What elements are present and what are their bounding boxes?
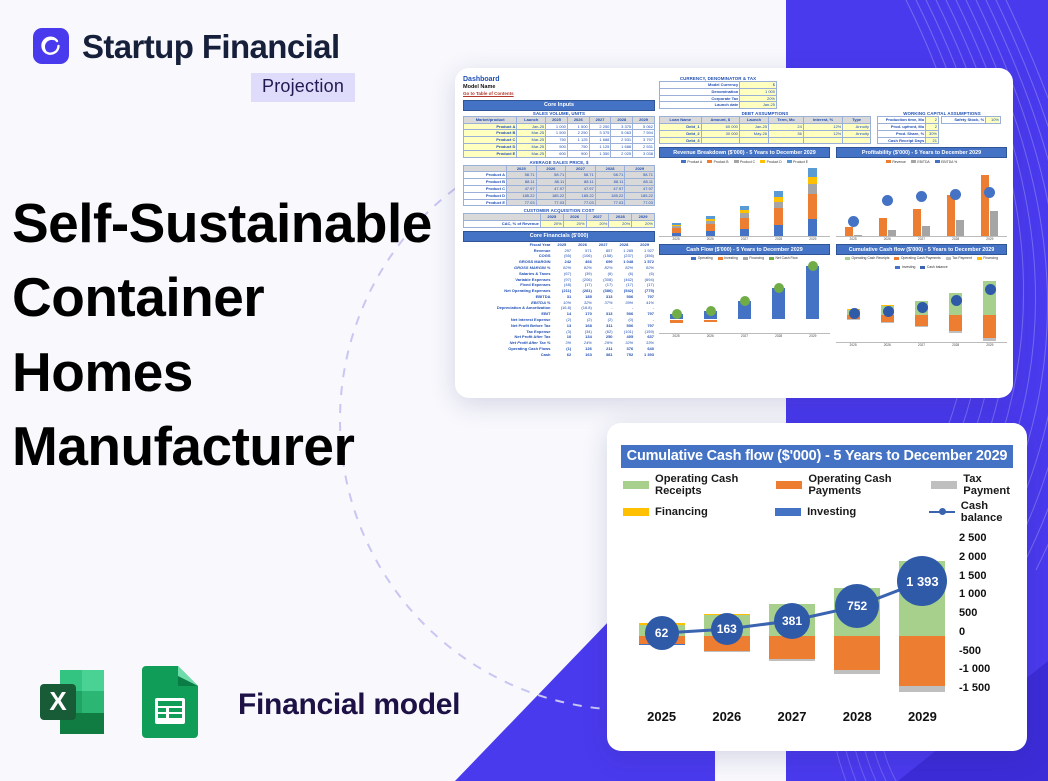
cell-value[interactable] bbox=[739, 137, 768, 144]
cash-flow-legend: OperatingInvestingFinancingNet Cash Flow bbox=[659, 256, 830, 260]
col-product bbox=[464, 165, 507, 172]
core-financials-table: Fiscal Year 2025 2026 2027 2028 2029 Rev… bbox=[463, 242, 655, 358]
legend-swatch-icon bbox=[977, 257, 982, 260]
table-row: CAC, % of Revenue20%20%20%20%20% bbox=[464, 221, 655, 228]
wc-table: Production time, Mo2Prod. upfront, Mo2Pr… bbox=[877, 116, 939, 144]
legend-item: EBITDA bbox=[911, 160, 930, 164]
cell-value: 2 025 bbox=[611, 150, 633, 157]
cac-body: CAC, % of Revenue20%20%20%20%20% bbox=[464, 221, 655, 228]
bar-segment bbox=[983, 315, 996, 338]
cell-value: 2 250 bbox=[589, 123, 611, 130]
cell-value: 750 bbox=[546, 137, 568, 144]
safety-stock-label: Safety Stock, % bbox=[942, 117, 986, 124]
data-point-label: 62 bbox=[645, 616, 679, 650]
revenue-breakdown-legend: Product AProduct BProduct CProduct DProd… bbox=[659, 160, 830, 164]
cash-flow-chart[interactable]: Cash Flow ($'000) - 5 Years to December … bbox=[659, 244, 830, 347]
legend-label: Operating Cash Receipts bbox=[655, 473, 776, 497]
table-row: Product C47.9747.9747.9747.9747.97 bbox=[464, 185, 655, 192]
line-marker bbox=[740, 296, 750, 306]
dashboard-right-column: CURRENCY, DENOMINATOR & TAX Model Curren… bbox=[659, 76, 1007, 347]
cumulative-xaxis: 20252026202720282029 bbox=[629, 709, 955, 724]
table-row: Model Currency$ bbox=[660, 82, 777, 89]
data-point-label: 1 393 bbox=[897, 556, 947, 606]
wc-body: Production time, Mo2Prod. upfront, Mo2Pr… bbox=[878, 117, 939, 144]
legend-swatch-icon bbox=[623, 508, 649, 516]
legend-swatch-icon bbox=[707, 160, 712, 163]
metric-label: Cash bbox=[463, 352, 551, 358]
currency-table: Model Currency$Denomination1 000Corporat… bbox=[659, 81, 777, 109]
axis-tick-label: 2028 bbox=[952, 237, 959, 241]
cell-value[interactable]: 20% bbox=[563, 221, 586, 228]
legend-item: Operating Cash Payments bbox=[894, 256, 940, 260]
bar-segment bbox=[740, 218, 749, 229]
dashboard-left-column: Dashboard Model Name Go to Table of Cont… bbox=[463, 76, 655, 358]
bar-segment bbox=[740, 210, 749, 213]
brand-name: Startup Financial bbox=[82, 30, 340, 63]
bar-segment bbox=[774, 225, 783, 236]
legend-item-operating-receipts: Operating Cash Receipts bbox=[623, 473, 776, 497]
legend-item: Product E bbox=[787, 160, 808, 164]
excel-file-icon: X bbox=[32, 662, 112, 747]
col-year: 2025 bbox=[546, 116, 568, 123]
cell-value: 1 125 bbox=[589, 143, 611, 150]
cac-table: 2025 2026 2027 2028 2029 CAC, % of Reven… bbox=[463, 213, 655, 228]
axis-tick-label: 1 000 bbox=[959, 588, 1021, 600]
col-interest: Interest, % bbox=[803, 117, 842, 124]
bar-segment bbox=[706, 216, 715, 219]
cell-value: 3 038 bbox=[633, 150, 655, 157]
legend-item: Financing bbox=[977, 256, 998, 260]
axis-tick-label: 2028 bbox=[825, 709, 890, 724]
kv-value[interactable]: 30% bbox=[926, 130, 939, 137]
cumulative-chart-mini[interactable]: Cumulative Cash flow ($'000) - 5 Years t… bbox=[836, 244, 1007, 347]
legend-swatch-icon bbox=[845, 257, 850, 260]
bar-segment bbox=[706, 221, 715, 224]
legend-item: Operating Cash Receipts bbox=[845, 256, 889, 260]
legend-item-financing: Financing bbox=[623, 500, 775, 524]
bar-segment bbox=[672, 225, 681, 226]
debt-block: DEBT ASSUMPTIONS Loan Name Amount, $ Lau… bbox=[659, 111, 871, 144]
profitability-xaxis: 20252026202720282029 bbox=[836, 237, 1007, 241]
cell-value[interactable]: Debt_2 bbox=[660, 130, 702, 137]
cell-value: 47.97 bbox=[536, 185, 566, 192]
legend-swatch-icon bbox=[935, 160, 940, 163]
cell-value[interactable]: 12% bbox=[803, 123, 842, 130]
table-row: Product DMar-255007501 1251 6882 531 bbox=[464, 143, 655, 150]
cell-value[interactable] bbox=[769, 137, 804, 144]
cell-value: 47.97 bbox=[566, 185, 596, 192]
cell-value: 47.97 bbox=[625, 185, 655, 192]
table-row: Cash621633817521 393 bbox=[463, 352, 655, 358]
bar-segment bbox=[706, 224, 715, 231]
cell-value: 185.22 bbox=[566, 192, 596, 199]
axis-tick-label: 2026 bbox=[707, 237, 714, 241]
table-row: Product E77.0377.0377.0377.0377.03 bbox=[464, 199, 655, 206]
cash-flow-title: Cash Flow ($'000) - 5 Years to December … bbox=[659, 244, 830, 255]
circular-arrow-logo-icon bbox=[33, 28, 69, 64]
kv-value[interactable]: 1 000 bbox=[740, 88, 777, 95]
kv-value[interactable]: 2 bbox=[926, 117, 939, 124]
legend-swatch-icon bbox=[718, 257, 723, 260]
cumulative-xaxis-mini: 20252026202720282029 bbox=[836, 343, 1007, 347]
cell-value: 47.97 bbox=[506, 185, 536, 192]
col-launch: Launch bbox=[739, 117, 768, 124]
product-name: Product A bbox=[464, 172, 507, 179]
bar-segment bbox=[774, 191, 783, 197]
legend-row-1: Operating Cash Receipts Operating Cash P… bbox=[623, 473, 1013, 497]
sales-volume-table: Market/product Launch 2025 2026 2027 202… bbox=[463, 116, 655, 158]
cell-value: 88.11 bbox=[536, 179, 566, 186]
cash-flow-plot bbox=[659, 262, 830, 334]
col-year: 2027 bbox=[566, 165, 596, 172]
col-year: 2028 bbox=[611, 116, 633, 123]
line-marker bbox=[848, 216, 859, 227]
launch-value[interactable]: Mar-25 bbox=[517, 150, 546, 157]
kv-label: Prod. upfront, Mo bbox=[878, 123, 926, 130]
axis-tick-label: 2025 bbox=[629, 709, 694, 724]
format-badges: X Financial model bbox=[32, 662, 460, 747]
legend-swatch-icon bbox=[787, 160, 792, 163]
legend-item: Product A bbox=[681, 160, 702, 164]
cell-value: 1 000 bbox=[546, 123, 568, 130]
bar-revenue bbox=[913, 209, 921, 236]
legend-item: Net Cash Flow bbox=[769, 256, 798, 260]
safety-stock-value[interactable]: 10% bbox=[986, 117, 1001, 124]
cell-value[interactable]: 12% bbox=[803, 130, 842, 137]
data-point-label: 752 bbox=[835, 584, 879, 628]
bar-ebitda bbox=[922, 226, 930, 236]
table-row: Product AJan-251 0001 5002 2503 3755 062 bbox=[464, 123, 655, 130]
product-name: Product D bbox=[464, 143, 517, 150]
cell-value: 58.71 bbox=[595, 172, 625, 179]
axis-tick-label: 2026 bbox=[884, 237, 891, 241]
col-cac bbox=[464, 214, 541, 221]
legend-line-icon bbox=[929, 508, 955, 516]
cell-value[interactable]: 36 bbox=[769, 130, 804, 137]
cell-value: 163 bbox=[572, 352, 593, 358]
kv-label: Prod. Share, % bbox=[878, 130, 926, 137]
legend-swatch-icon bbox=[681, 160, 686, 163]
col-year: 2025 bbox=[540, 214, 563, 221]
debt-table: Loan Name Amount, $ Launch Term, Mo Inte… bbox=[659, 116, 871, 144]
cumulative-legend-mini: Operating Cash ReceiptsOperating Cash Pa… bbox=[836, 256, 1007, 269]
col-market-product: Market/product bbox=[464, 116, 517, 123]
brand-subtitle: Projection bbox=[251, 73, 355, 102]
bar-segment bbox=[672, 228, 681, 233]
cell-value[interactable]: Debt_1 bbox=[660, 123, 702, 130]
cell-value: 77.03 bbox=[536, 199, 566, 206]
cumulative-cashflow-title: Cumulative Cash flow ($'000) - 5 Years t… bbox=[621, 445, 1013, 468]
bar-segment bbox=[915, 315, 928, 326]
axis-tick-label: -1 500 bbox=[959, 682, 1021, 694]
line-marker bbox=[950, 189, 961, 200]
launch-value[interactable]: Jan-25 bbox=[517, 123, 546, 130]
col-type: Type bbox=[843, 117, 871, 124]
cell-value[interactable]: 20% bbox=[586, 221, 609, 228]
line-marker bbox=[672, 309, 682, 319]
cumulative-cashflow-legend: Operating Cash Receipts Operating Cash P… bbox=[623, 473, 1013, 524]
axis-tick-label: 2025 bbox=[673, 334, 680, 338]
core-inputs-header: Core Inputs bbox=[463, 100, 655, 111]
axis-tick-label: 2027 bbox=[918, 237, 925, 241]
bar-segment bbox=[672, 233, 681, 236]
col-year: 2026 bbox=[567, 116, 589, 123]
profitability-legend: RevenueEBITDAEBITDA % bbox=[836, 160, 1007, 164]
launch-value[interactable]: Mar-25 bbox=[517, 137, 546, 144]
debt-header-row: Loan Name Amount, $ Launch Term, Mo Inte… bbox=[660, 117, 871, 124]
bar-segment bbox=[949, 315, 962, 331]
legend-swatch-icon bbox=[895, 266, 900, 269]
cell-value[interactable]: May-26 bbox=[739, 130, 768, 137]
legend-item-operating-payments: Operating Cash Payments bbox=[776, 473, 931, 497]
bar-revenue bbox=[947, 195, 955, 236]
axis-tick-label: 2029 bbox=[986, 343, 993, 347]
google-sheets-icon bbox=[134, 662, 206, 747]
bar-revenue bbox=[981, 175, 989, 237]
legend-swatch-icon bbox=[623, 481, 649, 489]
table-row: Product A58.7158.7158.7158.7158.71 bbox=[464, 172, 655, 179]
legend-swatch-icon bbox=[734, 160, 739, 163]
axis-tick-label: 2029 bbox=[809, 334, 816, 338]
bar-segment bbox=[740, 229, 749, 237]
bar-segment bbox=[740, 206, 749, 210]
bar-segment bbox=[808, 184, 817, 194]
data-point-label: 163 bbox=[711, 613, 743, 645]
cell-value: 77.03 bbox=[625, 199, 655, 206]
cell-value: 1 688 bbox=[589, 137, 611, 144]
revenue-breakdown-xaxis: 20252026202720282029 bbox=[659, 237, 830, 241]
kv-label: Denomination bbox=[660, 88, 740, 95]
legend-item: Financing bbox=[743, 256, 764, 260]
cell-value: 1 500 bbox=[546, 130, 568, 137]
svg-text:X: X bbox=[49, 686, 67, 716]
cell-value: 3 797 bbox=[633, 137, 655, 144]
cell-value[interactable]: 30 000 bbox=[701, 130, 739, 137]
axis-tick-label: 2028 bbox=[775, 334, 782, 338]
col-year: 2027 bbox=[586, 214, 609, 221]
axis-tick-label: 2 500 bbox=[959, 532, 1021, 544]
col-year: 2027 bbox=[589, 116, 611, 123]
bar-segment bbox=[672, 226, 681, 228]
col-year: 2026 bbox=[563, 214, 586, 221]
product-name: Product C bbox=[464, 185, 507, 192]
cell-value[interactable]: 20% bbox=[540, 221, 563, 228]
cell-value[interactable]: 20% bbox=[609, 221, 632, 228]
bar-revenue bbox=[845, 227, 853, 237]
cac-label: CAC, % of Revenue bbox=[464, 221, 541, 228]
profitability-title: Profitability ($'000) - 5 Years to Decem… bbox=[836, 147, 1007, 158]
table-row: Prod. upfront, Mo2 bbox=[878, 123, 939, 130]
legend-item: Operating bbox=[691, 256, 712, 260]
product-name: Product B bbox=[464, 130, 517, 137]
legend-item: Investing bbox=[718, 256, 738, 260]
bar-ebitda bbox=[854, 235, 862, 236]
cell-value[interactable] bbox=[803, 137, 842, 144]
legend-swatch-icon bbox=[931, 481, 957, 489]
kv-label: Corporate Tax bbox=[660, 95, 740, 102]
cell-value: 88.11 bbox=[595, 179, 625, 186]
cell-value: 500 bbox=[546, 143, 568, 150]
legend-swatch-icon bbox=[760, 160, 765, 163]
kv-label: Cash Receipt Days bbox=[878, 137, 926, 144]
axis-tick-label: 2026 bbox=[707, 334, 714, 338]
bar-investing bbox=[704, 320, 717, 322]
legend-item-investing: Investing bbox=[775, 500, 929, 524]
cell-value: 750 bbox=[567, 143, 589, 150]
legend-label: Tax Payment bbox=[963, 473, 1013, 497]
line-marker bbox=[774, 283, 784, 293]
kv-value[interactable]: Jan-25 bbox=[740, 102, 777, 109]
legend-swatch-icon bbox=[946, 257, 951, 260]
cell-value[interactable]: Jan-25 bbox=[739, 123, 768, 130]
cell-value[interactable]: 24 bbox=[769, 123, 804, 130]
table-row: Debt_160 000Jan-252412%Annuity bbox=[660, 123, 871, 130]
cell-value: 2 250 bbox=[567, 130, 589, 137]
axis-tick-label: 1 500 bbox=[959, 570, 1021, 582]
kv-label: Production time, Mo bbox=[878, 117, 926, 124]
cell-value: 1 125 bbox=[567, 137, 589, 144]
legend-swatch-icon bbox=[776, 481, 802, 489]
legend-row-2: Financing Investing Cash balance bbox=[623, 500, 1013, 524]
cell-value[interactable]: 20% bbox=[632, 221, 655, 228]
currency-block: CURRENCY, DENOMINATOR & TAX Model Curren… bbox=[659, 76, 777, 109]
revenue-breakdown-chart[interactable]: Revenue Breakdown ($'000) - 5 Years to D… bbox=[659, 147, 830, 241]
launch-value[interactable]: Mar-25 bbox=[517, 143, 546, 150]
bar-segment bbox=[808, 219, 817, 236]
axis-tick-label: 2026 bbox=[694, 709, 759, 724]
kv-value[interactable]: 21 bbox=[926, 137, 939, 144]
wc-block: WORKING CAPITAL ASSUMPTIONS Production t… bbox=[877, 111, 1007, 144]
axis-tick-label: 2026 bbox=[884, 343, 891, 347]
core-financials-header: Core Financials ($'000) bbox=[463, 231, 655, 242]
cell-value[interactable]: Annuity bbox=[843, 130, 871, 137]
cell-value: 88.11 bbox=[566, 179, 596, 186]
cell-value: 58.71 bbox=[506, 172, 536, 179]
cell-value[interactable] bbox=[843, 137, 871, 144]
legend-swatch-icon bbox=[894, 257, 899, 260]
cell-value: 3 375 bbox=[589, 130, 611, 137]
table-row: Corporate Tax20% bbox=[660, 95, 777, 102]
table-row: Prod. Share, %30% bbox=[878, 130, 939, 137]
cell-value[interactable]: Annuity bbox=[843, 123, 871, 130]
bar-segment bbox=[706, 219, 715, 221]
bar-segment bbox=[672, 223, 681, 225]
dashboard-model-name: Model Name bbox=[463, 84, 655, 90]
bar-segment bbox=[774, 202, 783, 209]
bar-segment bbox=[706, 231, 715, 236]
table-row: Product B88.1188.1188.1188.1188.11 bbox=[464, 179, 655, 186]
axis-tick-label: 2028 bbox=[952, 343, 959, 347]
cumulative-cashflow-card[interactable]: Cumulative Cash flow ($'000) - 5 Years t… bbox=[607, 423, 1027, 751]
line-marker bbox=[883, 306, 894, 317]
cell-value: 1 350 bbox=[589, 150, 611, 157]
line-marker bbox=[882, 195, 893, 206]
financial-model-label: Financial model bbox=[238, 688, 460, 722]
kv-value[interactable]: 2 bbox=[926, 123, 939, 130]
revenue-breakdown-title: Revenue Breakdown ($'000) - 5 Years to D… bbox=[659, 147, 830, 158]
col-year: 2029 bbox=[632, 214, 655, 221]
bar-segment bbox=[808, 177, 817, 184]
product-name: Product D bbox=[464, 192, 507, 199]
bar-segment bbox=[949, 331, 962, 333]
legend-item: EBITDA % bbox=[935, 160, 958, 164]
legend-label: Cash balance bbox=[961, 500, 1013, 524]
cell-value: 1 688 bbox=[611, 143, 633, 150]
bar-revenue bbox=[879, 218, 887, 236]
axis-tick-label: 2025 bbox=[850, 237, 857, 241]
col-year: 2029 bbox=[625, 165, 655, 172]
legend-swatch-icon bbox=[911, 160, 916, 163]
axis-tick-label: 2 000 bbox=[959, 551, 1021, 563]
kv-value[interactable]: $ bbox=[740, 82, 777, 89]
bar-segment bbox=[808, 194, 817, 219]
product-name: Product B bbox=[464, 179, 507, 186]
sales-volume-body: Product AJan-251 0001 5002 2503 3755 062… bbox=[464, 123, 655, 157]
axis-tick-label: 2027 bbox=[759, 709, 824, 724]
kv-value[interactable]: 20% bbox=[740, 95, 777, 102]
line-marker bbox=[916, 191, 927, 202]
cell-value: 77.03 bbox=[506, 199, 536, 206]
axis-tick-label: 2029 bbox=[986, 237, 993, 241]
page-title: Self-Sustainable Container Homes Manufac… bbox=[12, 186, 442, 483]
dashboard-preview-card[interactable]: Dashboard Model Name Go to Table of Cont… bbox=[455, 68, 1013, 398]
legend-item: Product D bbox=[760, 160, 782, 164]
cumulative-yaxis: 2 5002 0001 5001 0005000-500-1 000-1 500 bbox=[959, 532, 1021, 694]
wc-extra-table: Safety Stock, % 10% bbox=[941, 116, 1001, 124]
debt-body: Debt_160 000Jan-252412%AnnuityDebt_230 0… bbox=[660, 123, 871, 143]
cell-value: 3 375 bbox=[611, 123, 633, 130]
cell-value: 62 bbox=[551, 352, 572, 358]
cell-value: 1 393 bbox=[634, 352, 655, 358]
core-financials-body: Revenue2975718571 2851 927COGS(55)(106)(… bbox=[463, 248, 655, 358]
legend-item: Cash balance bbox=[920, 265, 947, 269]
cell-value[interactable]: 60 000 bbox=[701, 123, 739, 130]
legend-item: Investing bbox=[895, 265, 915, 269]
line-marker bbox=[984, 187, 995, 198]
bar-segment bbox=[740, 213, 749, 217]
profitability-chart[interactable]: Profitability ($'000) - 5 Years to Decem… bbox=[836, 147, 1007, 241]
axis-tick-label: 500 bbox=[959, 607, 1021, 619]
product-name: Product C bbox=[464, 137, 517, 144]
bar-segment bbox=[808, 168, 817, 177]
table-row: Production time, Mo2 bbox=[878, 117, 939, 124]
col-launch: Launch bbox=[517, 116, 546, 123]
cell-value[interactable] bbox=[701, 137, 739, 144]
bar-investing bbox=[670, 320, 683, 323]
col-year: 2029 bbox=[633, 116, 655, 123]
table-row: Cash Receipt Days21 bbox=[878, 137, 939, 144]
legend-item: Product B bbox=[707, 160, 728, 164]
axis-tick-label: 2029 bbox=[890, 709, 955, 724]
cell-value[interactable]: Debt_3 bbox=[660, 137, 702, 144]
col-term: Term, Mo bbox=[769, 117, 804, 124]
cumulative-plot-mini bbox=[836, 271, 1007, 343]
cell-value: 7 594 bbox=[633, 130, 655, 137]
cell-value: 58.71 bbox=[625, 172, 655, 179]
legend-item-cash-balance: Cash balance bbox=[929, 500, 1013, 524]
cell-value: 58.71 bbox=[536, 172, 566, 179]
col-year: 2028 bbox=[595, 165, 625, 172]
launch-value[interactable]: Mar-25 bbox=[517, 130, 546, 137]
avg-price-table: 2025 2026 2027 2028 2029 Product A58.715… bbox=[463, 165, 655, 207]
bar-ebitda bbox=[956, 220, 964, 236]
bar-segment bbox=[774, 208, 783, 224]
dashboard-toc-link[interactable]: Go to Table of Contents bbox=[463, 91, 655, 96]
bar-segment bbox=[915, 326, 928, 327]
cell-value: 900 bbox=[567, 150, 589, 157]
legend-swatch-icon bbox=[769, 257, 774, 260]
cash-balance-markers: 621633817521 393 bbox=[629, 538, 955, 694]
